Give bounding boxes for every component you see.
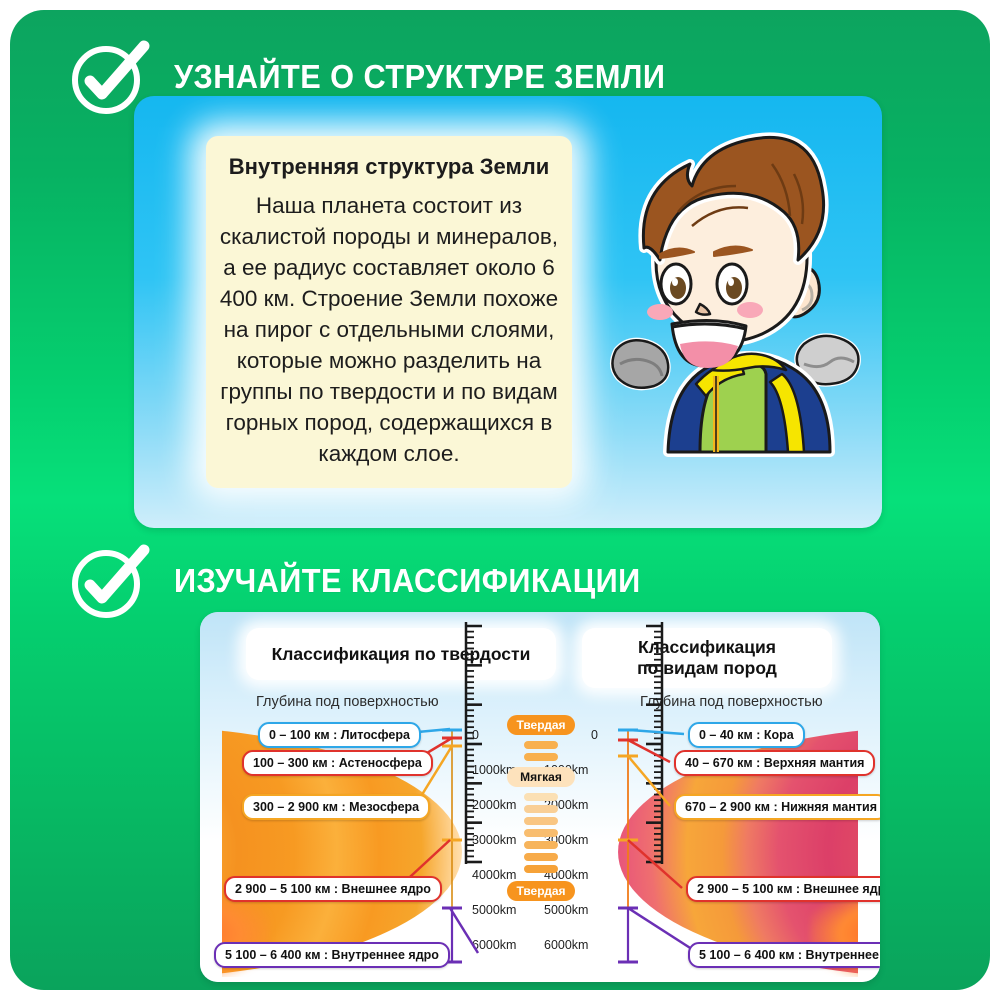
layer-pill-left-3[interactable]: 2 900 – 5 100 км : Внешнее ядро	[224, 876, 442, 902]
depth-ruler-right	[602, 618, 676, 868]
hardness-label-top: Твердая	[507, 715, 575, 735]
layer-pill-right-1[interactable]: 40 – 670 км : Верхняя мантия	[674, 750, 875, 776]
layer-pill-left-2[interactable]: 300 – 2 900 км : Мезосфера	[242, 794, 430, 820]
layer-pill-right-2[interactable]: 670 – 2 900 км : Нижняя мантия	[674, 794, 880, 820]
section-title: УЗНАЙТЕ О СТРУКТУРЕ ЗЕМЛИ	[174, 58, 665, 96]
info-body: Наша планета состоит из скалистой породы…	[216, 190, 562, 469]
layer-pill-left-1[interactable]: 100 – 300 км : Астеносфера	[242, 750, 433, 776]
check-circle-icon	[66, 538, 152, 624]
layer-pill-left-0[interactable]: 0 – 100 км : Литосфера	[258, 722, 421, 748]
info-text-panel: Внутренняя структура Земли Наша планета …	[206, 136, 572, 488]
cheek-right	[737, 302, 763, 318]
layer-pill-left-4[interactable]: 5 100 – 6 400 км : Внутреннее ядро	[214, 942, 450, 968]
cheek-left	[647, 304, 673, 320]
smiling-boy-illustration	[604, 112, 882, 516]
info-heading: Внутренняя структура Земли	[216, 154, 562, 180]
info-card: Внутренняя структура Земли Наша планета …	[134, 96, 882, 528]
hardness-label-middle: Мягкая	[507, 767, 575, 787]
depth-label-left: Глубина под поверхностью	[256, 694, 439, 710]
hardness-label-bottom: Твердая	[507, 881, 575, 901]
layer-pill-right-3[interactable]: 2 900 – 5 100 км : Внешнее ядро	[686, 876, 880, 902]
section-title: ИЗУЧАЙТЕ КЛАССИФИКАЦИИ	[174, 562, 641, 600]
poster-root: УЗНАЙТЕ О СТРУКТУРЕ ЗЕМЛИ Внутренняя стр…	[10, 10, 990, 990]
hardness-scale: Твердая Мягкая Твердая	[507, 715, 577, 905]
layer-pill-right-4[interactable]: 5 100 – 6 400 км : Внутреннее ядро	[688, 942, 880, 968]
layer-pill-right-0[interactable]: 0 – 40 км : Кора	[688, 722, 805, 748]
